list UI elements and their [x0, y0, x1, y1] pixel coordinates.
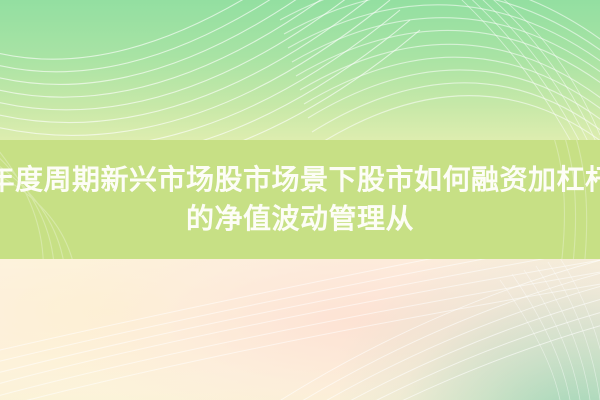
- page-title: 年度周期新兴市场股市场景下股市如何融资加杠杆 的净值波动管理从: [0, 140, 600, 259]
- headline-line-2: 的净值波动管理从: [186, 201, 414, 238]
- decorative-banner: 年度周期新兴市场股市场景下股市如何融资加杠杆 的净值波动管理从: [0, 0, 600, 400]
- background-teal-corner: [340, 240, 600, 400]
- headline-line-1: 年度周期新兴市场股市场景下股市如何融资加杠杆: [0, 162, 600, 199]
